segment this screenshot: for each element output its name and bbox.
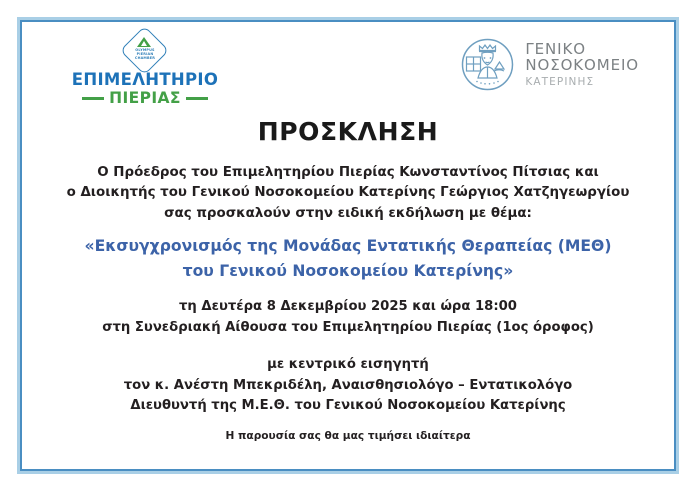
page-title: ΠΡΟΣΚΛΗΣΗ xyxy=(20,117,676,146)
mountain-peak-snow-icon xyxy=(141,41,147,46)
emblem-microtext-line-3: CHAMBER xyxy=(135,56,155,60)
chamber-name-sub: ΠΙΕΡΙΑΣ xyxy=(109,90,181,107)
event-datetime-venue-paragraph: τη Δευτέρα 8 Δεκεμβρίου 2025 και ώρα 18:… xyxy=(20,297,676,338)
speaker-line-2: τον κ. Ανέστη Μπεκριδέλη, Αναισθησιολόγο… xyxy=(20,376,676,397)
intro-line-1: Ο Πρόεδρος του Επιμελητηρίου Πιερίας Κων… xyxy=(20,163,676,183)
hospital-name-block: ΓΕΝΙΚΟ ΝΟΣΟΚΟΜΕΙΟ ΚΑΤΕΡΙΝΗΣ xyxy=(525,41,639,89)
closing-remark: Η παρουσία σας θα μας τιμήσει ιδιαίτερα xyxy=(20,429,676,444)
saint-catherine-medallion-icon xyxy=(461,38,514,91)
emblem-microtext: OLYMPUS PIERIAN CHAMBER xyxy=(124,48,166,60)
olympus-diamond-emblem: OLYMPUS PIERIAN CHAMBER xyxy=(124,31,166,69)
theme-line-2: του Γενικού Νοσοκομείου Κατερίνης» xyxy=(20,259,676,284)
hospital-name-line-3: ΚΑΤΕΡΙΝΗΣ xyxy=(525,75,639,89)
closing-line-1: Η παρουσία σας θα μας τιμήσει ιδιαίτερα xyxy=(20,429,676,444)
hospital-name-line-2: ΝΟΣΟΚΟΜΕΙΟ xyxy=(525,57,639,74)
chamber-of-pieria-logo: OLYMPUS PIERIAN CHAMBER ΕΠΙΜΕΛΗΤΗΡΙΟ ΠΙΕ… xyxy=(65,31,225,107)
intro-line-2: ο Διοικητής του Γενικού Νοσοκομείου Κατε… xyxy=(20,183,676,203)
chamber-name-sub-row: ΠΙΕΡΙΑΣ xyxy=(65,90,225,107)
speaker-line-1: με κεντρικό εισηγητή xyxy=(20,355,676,376)
hospital-name-line-1: ΓΕΝΙΚΟ xyxy=(525,41,639,58)
speaker-line-3: Διευθυντή της Μ.Ε.Θ. του Γενικού Νοσοκομ… xyxy=(20,396,676,417)
theme-line-1: «Εκσυγχρονισμός της Μονάδας Εντατικής Θε… xyxy=(20,234,676,259)
intro-paragraph: Ο Πρόεδρος του Επιμελητηρίου Πιερίας Κων… xyxy=(20,163,676,224)
decorative-rule-right xyxy=(186,97,208,99)
keynote-speaker-paragraph: με κεντρικό εισηγητή τον κ. Ανέστη Μπεκρ… xyxy=(20,355,676,417)
datetime-line: τη Δευτέρα 8 Δεκεμβρίου 2025 και ώρα 18:… xyxy=(20,297,676,318)
intro-line-3: σας προσκαλούν στην ειδική εκδήλωση με θ… xyxy=(20,204,676,224)
general-hospital-katerini-logo: ΓΕΝΙΚΟ ΝΟΣΟΚΟΜΕΙΟ ΚΑΤΕΡΙΝΗΣ xyxy=(461,38,639,91)
decorative-rule-left xyxy=(82,97,104,99)
medallion-svg xyxy=(461,38,514,91)
invitation-card: OLYMPUS PIERIAN CHAMBER ΕΠΙΜΕΛΗΤΗΡΙΟ ΠΙΕ… xyxy=(17,17,679,474)
chamber-name-main: ΕΠΙΜΕΛΗΤΗΡΙΟ xyxy=(65,71,225,89)
venue-line: στη Συνεδριακή Αίθουσα του Επιμελητηρίου… xyxy=(20,318,676,339)
event-theme-paragraph: «Εκσυγχρονισμός της Μονάδας Εντατικής Θε… xyxy=(20,234,676,284)
logo-header-row: OLYMPUS PIERIAN CHAMBER ΕΠΙΜΕΛΗΤΗΡΙΟ ΠΙΕ… xyxy=(20,20,676,112)
